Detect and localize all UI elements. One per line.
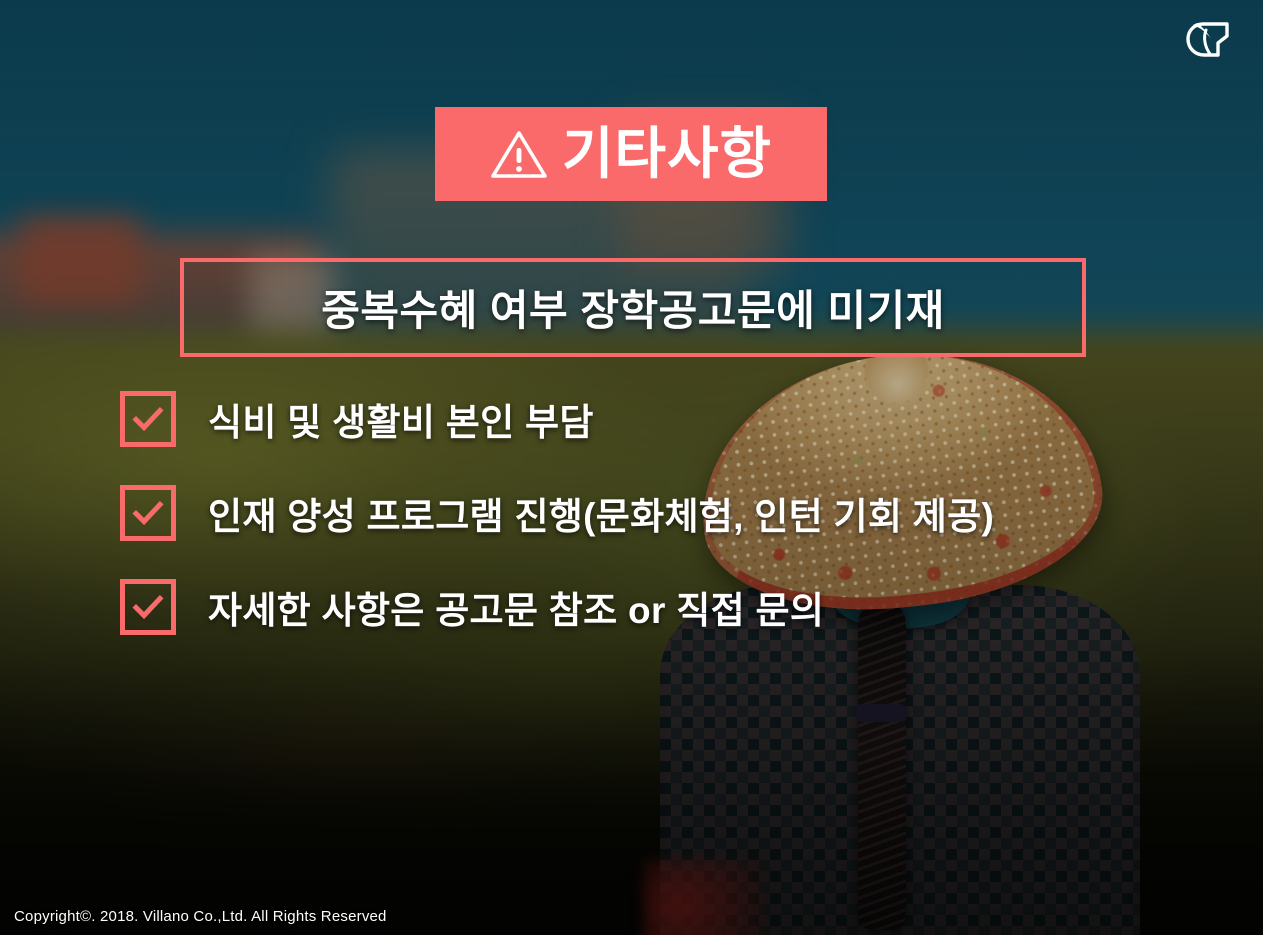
warning-triangle-icon (490, 128, 548, 180)
subtitle-text: 중복수혜 여부 장학공고문에 미기재 (321, 277, 945, 338)
checkbox-checked-icon (120, 579, 176, 635)
list-item-label: 자세한 사항은 공고문 참조 or 직접 문의 (208, 580, 824, 634)
copyright-footer: Copyright©. 2018. Villano Co.,Ltd. All R… (14, 908, 387, 925)
checkbox-checked-icon (120, 485, 176, 541)
page-title: 기타사항 (562, 126, 772, 182)
list-item-label: 식비 및 생활비 본인 부담 (208, 392, 594, 446)
subtitle-box: 중복수혜 여부 장학공고문에 미기재 (180, 258, 1086, 357)
list-item: 인재 양성 프로그램 진행(문화체험, 인턴 기회 제공) (120, 484, 1170, 542)
slide: 기타사항 중복수혜 여부 장학공고문에 미기재 식비 및 생활비 본인 부담 (0, 0, 1263, 935)
checklist: 식비 및 생활비 본인 부담 인재 양성 프로그램 진행(문화체험, 인턴 기회… (120, 390, 1170, 672)
slide-content: 기타사항 중복수혜 여부 장학공고문에 미기재 식비 및 생활비 본인 부담 (0, 0, 1263, 935)
villano-leaf-logo-icon (1183, 14, 1239, 64)
list-item-label: 인재 양성 프로그램 진행(문화체험, 인턴 기회 제공) (208, 486, 994, 540)
list-item: 식비 및 생활비 본인 부담 (120, 390, 1170, 448)
list-item: 자세한 사항은 공고문 참조 or 직접 문의 (120, 578, 1170, 636)
title-banner: 기타사항 (435, 107, 827, 201)
checkbox-checked-icon (120, 391, 176, 447)
